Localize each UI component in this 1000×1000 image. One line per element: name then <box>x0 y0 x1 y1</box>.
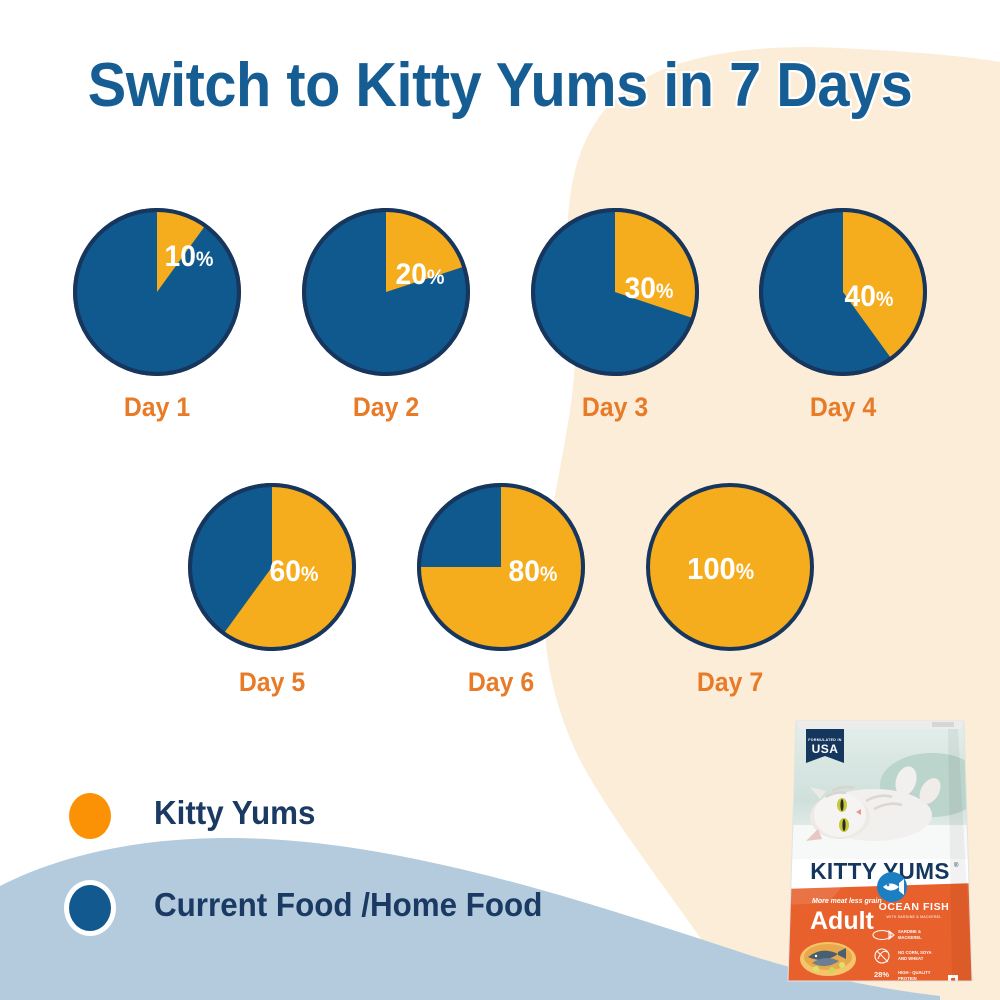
legend-swatch-orange-icon <box>64 788 116 844</box>
legend-label-current-food: Current Food /Home Food <box>154 886 542 924</box>
legend-item-current-food: Current Food /Home Food <box>64 874 704 946</box>
pie-value-day-2: 20% <box>396 260 445 290</box>
infographic-canvas: Switch to Kitty Yums in 7 Days 10% Day 1… <box>0 0 1000 1000</box>
pie-chart-day-7: 100% Day 7 <box>630 481 830 653</box>
pie-chart-day-3: 30% Day 3 <box>515 206 715 378</box>
pie-chart-day-6: 80% Day 6 <box>401 481 601 653</box>
bag-tagline: More meat less grain <box>812 898 882 905</box>
pie-value-day-5: 60% <box>270 557 319 587</box>
pie-value-day-7: 100% <box>687 553 754 584</box>
pie-value-day-6: 80% <box>509 557 558 587</box>
bag-feature-1-line2: MACKEREL <box>898 935 922 940</box>
pie-label-day-3: Day 3 <box>523 392 707 423</box>
page-title: Switch to Kitty Yums in 7 Days <box>35 52 965 120</box>
bag-feature-1-line1: SARDINE & <box>898 929 921 934</box>
pie-value-day-1: 10% <box>165 242 214 272</box>
pie-graphic-day-5: 60% <box>186 481 358 653</box>
pie-graphic-day-7: 100% <box>644 481 816 653</box>
product-bag-image: FORMULATED IN USA KITTY YUMS ® More meat… <box>782 707 978 992</box>
pie-chart-day-4: 40% Day 4 <box>743 206 943 378</box>
pie-graphic-day-1: 10% <box>71 206 243 378</box>
bag-net-weight: Net Wt. 1.2kg <box>810 982 848 988</box>
legend-swatch-blue-icon <box>64 880 116 936</box>
bag-feature-3-line1: HIGH - QUALITY <box>898 970 931 975</box>
bag-feature-2-line1: NO CORN, SOYA <box>898 950 932 955</box>
bag-feature-2-line2: AND WHEAT <box>898 956 924 961</box>
pie-value-day-4: 40% <box>845 282 894 312</box>
legend-item-kitty-yums: Kitty Yums <box>64 782 704 854</box>
bag-feature-3-line2: PROTEIN <box>898 976 917 981</box>
pie-graphic-day-6: 80% <box>415 481 587 653</box>
pie-label-day-6: Day 6 <box>409 667 593 698</box>
pie-label-day-4: Day 4 <box>751 392 935 423</box>
pie-chart-day-1: 10% Day 1 <box>57 206 257 378</box>
pie-graphic-day-4: 40% <box>757 206 929 378</box>
pie-label-day-2: Day 2 <box>294 392 478 423</box>
pie-graphic-day-3: 30% <box>529 206 701 378</box>
pie-label-day-7: Day 7 <box>638 667 822 698</box>
pie-label-day-1: Day 1 <box>65 392 249 423</box>
bag-flavour-sub: WITH SARDINE & MACKEREL <box>887 915 942 919</box>
bag-flavour: OCEAN FISH <box>879 901 950 913</box>
pie-value-day-3: 30% <box>625 274 674 304</box>
pie-label-day-5: Day 5 <box>180 667 364 698</box>
legend: Kitty Yums Current Food /Home Food <box>64 782 704 946</box>
legend-label-kitty-yums: Kitty Yums <box>154 794 315 832</box>
pie-chart-day-2: 20% Day 2 <box>286 206 486 378</box>
pie-chart-day-5: 60% Day 5 <box>172 481 372 653</box>
bag-usa-badge-country: USA <box>812 742 839 756</box>
bag-protein-value: 28% <box>874 970 889 979</box>
bag-life-stage: Adult <box>810 907 875 935</box>
pie-graphic-day-2: 20% <box>300 206 472 378</box>
